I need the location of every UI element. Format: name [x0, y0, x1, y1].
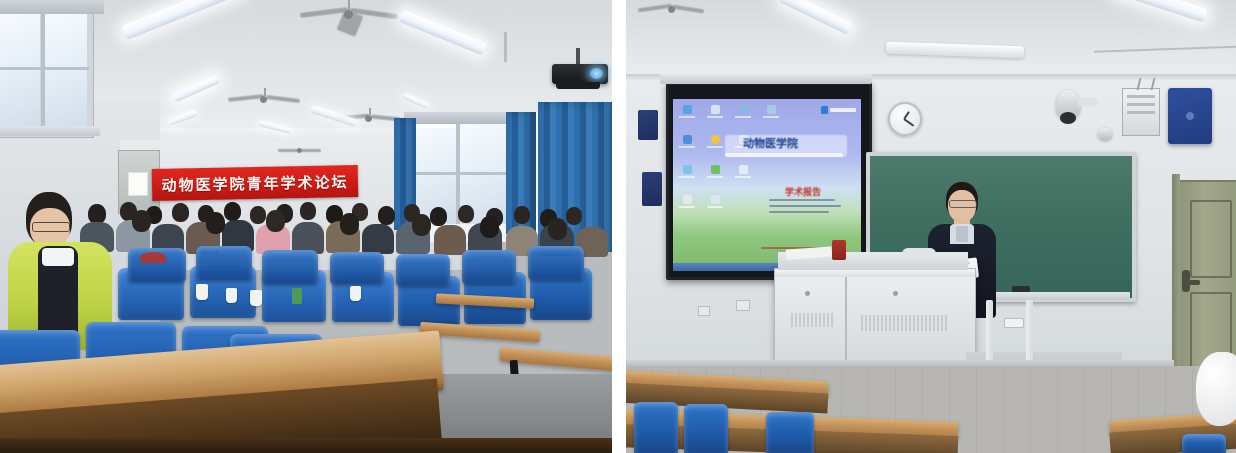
audience-head	[458, 205, 474, 223]
desktop-icon	[679, 135, 695, 148]
seat-logo	[140, 252, 166, 263]
eraser	[1012, 286, 1030, 292]
window-sill-left	[0, 126, 100, 136]
slide-title: 动物医学院	[743, 135, 798, 151]
audience-head	[566, 207, 582, 225]
projector-mount-rod	[504, 32, 507, 62]
photo-right: 动物医学院 学术报告	[626, 0, 1236, 453]
wall-pipe-2	[1026, 300, 1033, 366]
chair	[1182, 434, 1226, 453]
audience-head	[266, 210, 285, 232]
audience-head	[224, 202, 241, 221]
screen-roller-case	[660, 74, 872, 84]
wall-clock	[888, 102, 922, 136]
wall-speaker-blue	[1168, 88, 1212, 144]
desktop-icon	[707, 195, 723, 208]
audience-head	[340, 213, 359, 235]
desktop-icon	[679, 105, 695, 118]
audience-head	[514, 206, 530, 224]
desktop-icon	[763, 105, 779, 118]
audience-head	[206, 212, 225, 234]
desktop-icon	[707, 105, 723, 118]
podium-red-object	[832, 240, 846, 260]
desktop-icon	[707, 165, 723, 178]
event-banner-text: 动物医学院青年学术论坛	[161, 171, 348, 196]
figure-sheet: 动物医学院青年学术论坛	[0, 0, 1236, 453]
slide-window-bar	[725, 153, 843, 157]
audience-body	[434, 225, 466, 255]
slide-body-line	[769, 211, 829, 213]
audience-head	[132, 210, 151, 232]
seat	[196, 246, 252, 280]
chair	[766, 412, 814, 453]
ceiling-fan-1	[300, 0, 400, 34]
window-mullion-h1	[408, 172, 514, 175]
ceiling-fan	[638, 0, 708, 22]
audience-head	[300, 202, 316, 220]
slide-body-line	[769, 205, 841, 207]
seat	[462, 250, 516, 284]
slide-heading: 学术报告	[785, 185, 821, 198]
wall-outlet	[698, 306, 710, 316]
desktop-icon	[707, 135, 723, 148]
water-cup	[250, 290, 262, 306]
audience-body	[362, 224, 394, 254]
window-head-right	[404, 112, 516, 124]
ceiling-fan-4	[278, 144, 322, 160]
seat	[528, 246, 584, 280]
projector	[548, 48, 612, 94]
ceiling-fan-2	[228, 88, 302, 114]
audience-head	[548, 218, 567, 240]
front-desk-bottom-strip	[0, 438, 612, 453]
vendor-logo	[821, 106, 828, 114]
window-header-left	[0, 0, 104, 14]
vendor-logo-text	[830, 108, 856, 112]
slide-body-line	[769, 199, 835, 201]
photo-left: 动物医学院青年学术论坛	[0, 0, 612, 453]
wall-outlet	[736, 300, 750, 311]
audience-head	[430, 207, 447, 226]
camera-bracket	[1078, 98, 1098, 106]
audience-head	[378, 206, 395, 225]
wall-speaker-lower	[642, 172, 662, 206]
water-cup	[226, 288, 237, 303]
desktop-icon	[735, 105, 751, 118]
window-left	[0, 8, 94, 138]
audience-head	[480, 216, 499, 238]
seat	[396, 254, 450, 286]
wall-switch	[1004, 318, 1024, 328]
podium-monitor	[902, 248, 936, 260]
wall-speaker-upper	[638, 110, 658, 140]
chair	[684, 404, 728, 453]
water-cup	[350, 286, 361, 301]
audience-head	[172, 203, 189, 222]
plastic-bag	[1196, 352, 1236, 426]
smoke-detector	[1098, 128, 1112, 140]
seat	[330, 252, 384, 284]
antenna-bracket	[1137, 78, 1156, 90]
electrical-panel	[1122, 88, 1160, 136]
audience-head	[412, 214, 431, 236]
desktop-icon	[679, 195, 695, 208]
water-cup	[196, 284, 208, 300]
desktop-icon	[735, 165, 751, 178]
front-notice-paper	[128, 172, 148, 196]
chair	[634, 402, 678, 453]
audience-head	[250, 206, 266, 224]
green-bottle	[292, 288, 302, 304]
security-camera-lens	[1060, 112, 1076, 124]
seat	[262, 250, 318, 284]
desktop-icon	[679, 165, 695, 178]
